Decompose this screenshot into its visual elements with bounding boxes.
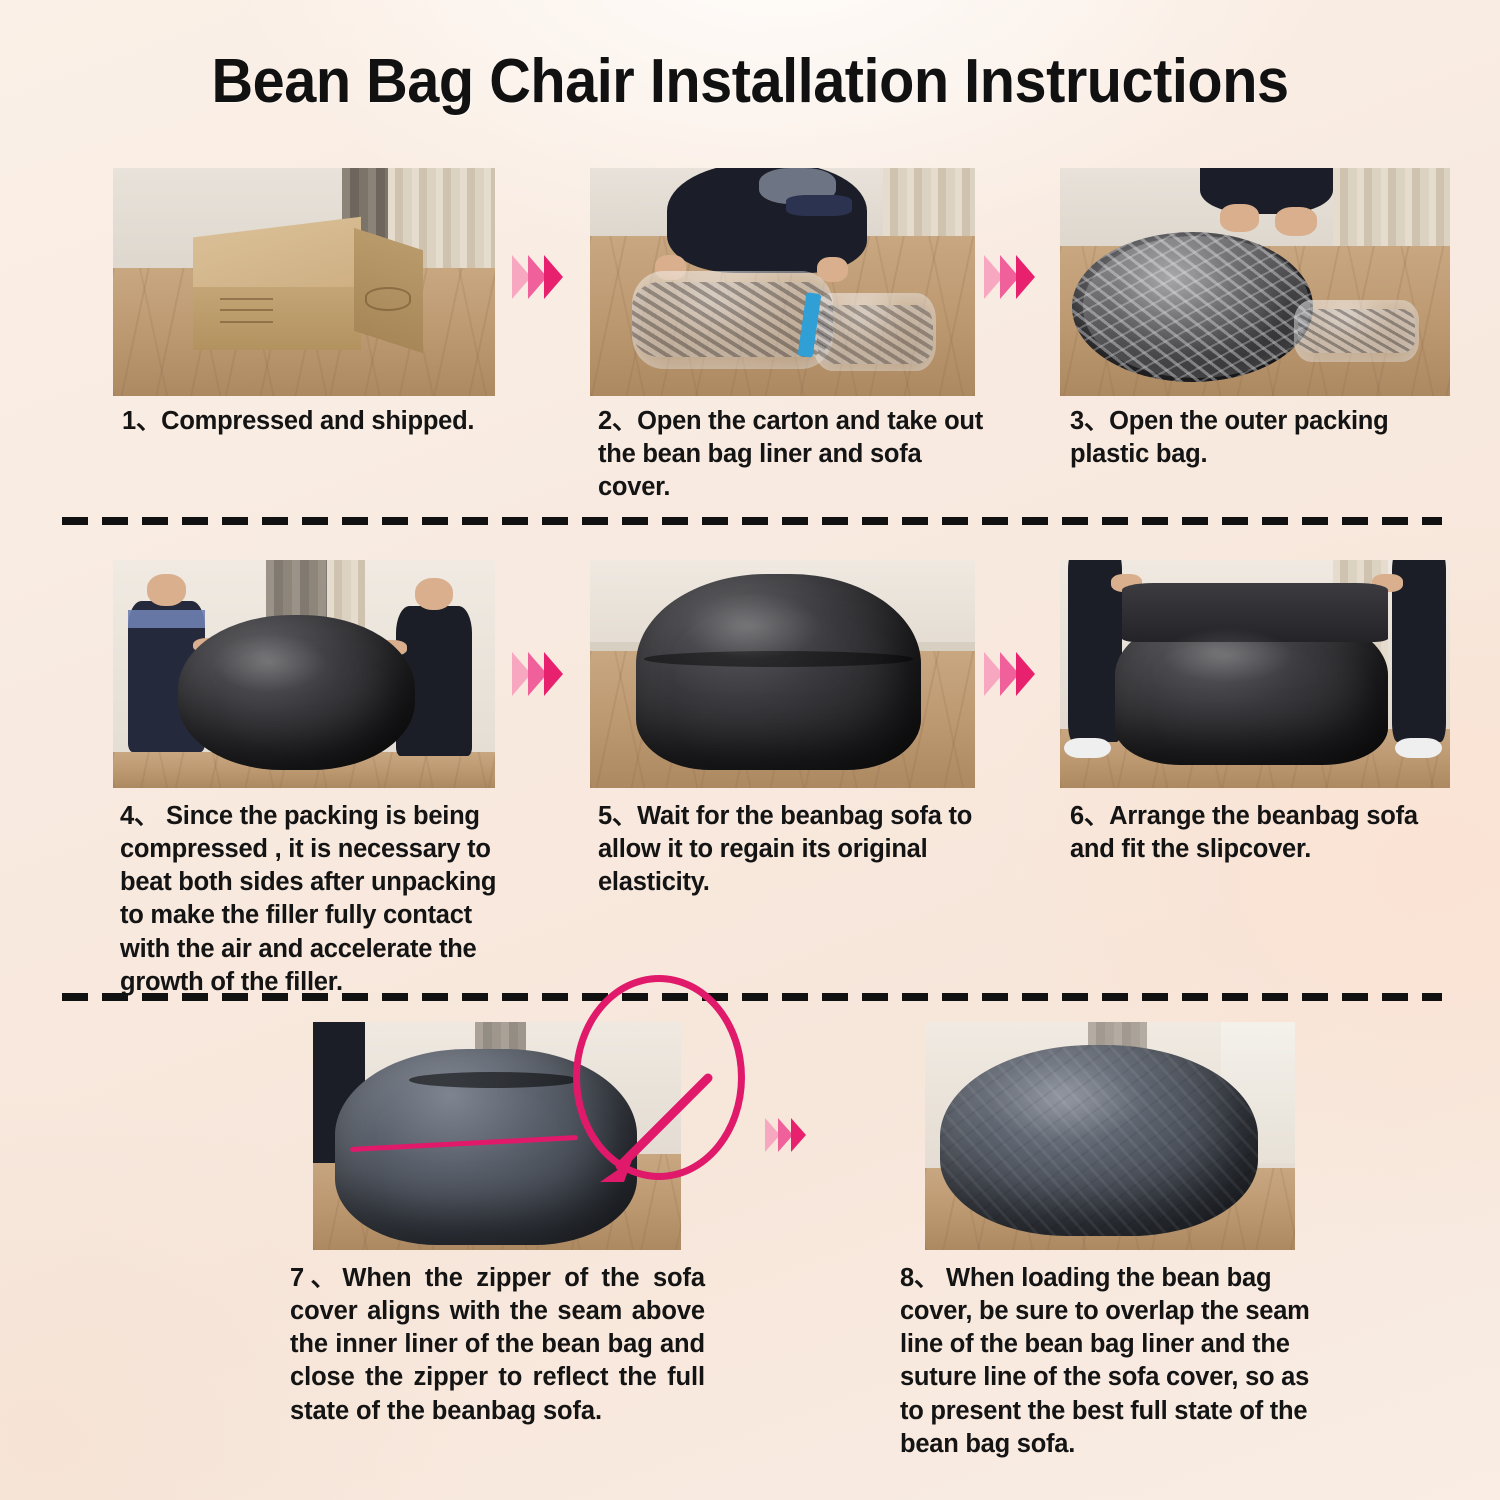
step-photo-5 <box>590 560 975 788</box>
infographic-page: Bean Bag Chair Installation Instructions… <box>0 0 1500 1500</box>
shoe-right <box>1395 738 1442 759</box>
photo-scene-6 <box>1060 560 1450 788</box>
chevron-right-icon <box>544 652 563 696</box>
step-caption-8: 8、 When loading the bean bag cover, be s… <box>900 1262 1310 1461</box>
chevron-right-icon <box>1016 652 1035 696</box>
carton-bean-bag-icon <box>365 287 411 312</box>
step-caption-4: 4、 Since the packing is being compressed… <box>120 800 520 999</box>
step-photo-4 <box>113 560 495 788</box>
arrow-step-4-to-5 <box>512 652 560 696</box>
step-caption-5: 5、Wait for the beanbag sofa to allow it … <box>598 800 978 899</box>
step-caption-1: 1、Compressed and shipped. <box>122 405 522 438</box>
arrow-step-5-to-6 <box>984 652 1032 696</box>
chevron-right-icon <box>544 255 563 299</box>
arrow-step-7-to-8 <box>765 1118 804 1152</box>
step-caption-6: 6、Arrange the beanbag sofa and fit the s… <box>1070 800 1440 866</box>
photo-scene-4 <box>113 560 495 788</box>
step-photo-2 <box>590 168 975 396</box>
photo-scene-3 <box>1060 168 1450 396</box>
divider-row-2 <box>62 993 1442 1001</box>
chevron-right-icon <box>1016 255 1035 299</box>
shoe-left <box>1064 738 1111 759</box>
photo-scene-2 <box>590 168 975 396</box>
step-caption-2: 2、Open the carton and take out the bean … <box>598 405 988 504</box>
step-photo-6 <box>1060 560 1450 788</box>
divider-row-1 <box>62 517 1442 525</box>
photo-scene-5 <box>590 560 975 788</box>
step-caption-7: 7、When the zipper of the sofa cover alig… <box>290 1262 705 1428</box>
arrow-step-2-to-3 <box>984 255 1032 299</box>
step-photo-1 <box>113 168 495 396</box>
chevron-right-icon <box>791 1118 806 1152</box>
page-title: Bean Bag Chair Installation Instructions <box>53 46 1448 117</box>
step-photo-3 <box>1060 168 1450 396</box>
highlight-arrow-icon <box>580 1070 720 1190</box>
step-caption-3: 3、Open the outer packing plastic bag. <box>1070 405 1440 471</box>
arrow-step-1-to-2 <box>512 255 560 299</box>
step-photo-8 <box>925 1022 1295 1250</box>
photo-scene-8 <box>925 1022 1295 1250</box>
photo-scene-1 <box>113 168 495 396</box>
